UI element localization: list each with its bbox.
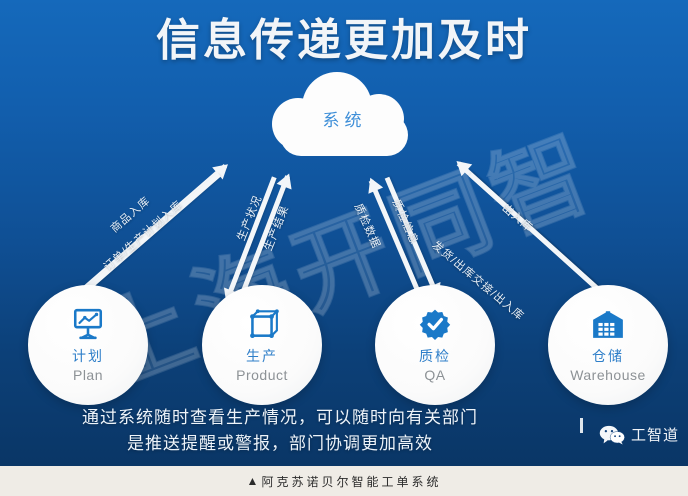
slide-canvas: 上海开同智 信息传递更加及时 商品入库 订单/生产计划入库 生产状况 生产结果 … <box>0 0 688 466</box>
footer-bar: ▲ 阿克苏诺贝尔智能工单系统 <box>0 466 688 496</box>
cube-outline-icon <box>245 307 279 341</box>
node-product[interactable]: 生产 Product <box>202 285 322 405</box>
presentation-chart-icon <box>71 307 105 341</box>
wechat-icon <box>599 425 625 445</box>
footer-marker: ▲ <box>247 474 262 488</box>
node-qa-label-en: QA <box>424 367 445 383</box>
node-plan-label-en: Plan <box>73 367 103 383</box>
badge-divider <box>580 418 583 433</box>
node-product-label-en: Product <box>236 367 288 383</box>
caption-block: 通过系统随时查看生产情况，可以随时向有关部门 是推送提醒或警报，部门协调更加高效 <box>0 405 560 458</box>
wechat-badge[interactable]: 工智道 <box>599 424 679 445</box>
node-warehouse-label-en: Warehouse <box>570 367 646 383</box>
caption-line-1: 通过系统随时查看生产情况，可以随时向有关部门 <box>0 405 560 431</box>
node-warehouse[interactable]: 仓储 Warehouse <box>548 285 668 405</box>
node-warehouse-label-cn: 仓储 <box>592 349 624 364</box>
caption-line-2: 是推送提醒或警报，部门协调更加高效 <box>0 431 560 457</box>
footer-caption: 阿克苏诺贝尔智能工单系统 <box>261 473 441 490</box>
warehouse-building-icon <box>591 307 625 341</box>
verified-check-badge-icon <box>418 307 452 341</box>
node-product-label-cn: 生产 <box>246 349 278 364</box>
node-qa[interactable]: 质检 QA <box>375 285 495 405</box>
node-qa-label-cn: 质检 <box>419 349 451 364</box>
page-title: 信息传递更加及时 <box>0 4 688 68</box>
system-cloud-node[interactable]: 系统 <box>272 72 417 160</box>
system-cloud-label: 系统 <box>272 106 417 131</box>
node-plan-label-cn: 计划 <box>72 349 104 364</box>
wechat-badge-name: 工智道 <box>631 424 679 445</box>
node-plan[interactable]: 计划 Plan <box>28 285 148 405</box>
